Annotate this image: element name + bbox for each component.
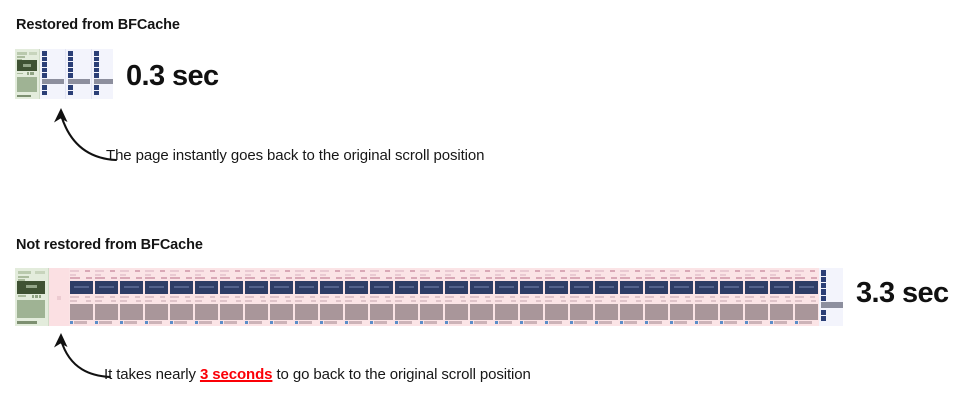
thumbnail-loading-page — [569, 268, 594, 326]
thumbnail-loading-page — [244, 268, 269, 326]
thumbnail-loading-page — [269, 268, 294, 326]
thumbnail-loading-page — [519, 268, 544, 326]
thumbnail-loading-page — [444, 268, 469, 326]
thumbnail-blank-gap — [49, 268, 69, 326]
thumbnail-loading-page — [219, 268, 244, 326]
thumbnail-loading-page — [544, 268, 569, 326]
thumbnail-restored-page — [819, 268, 843, 326]
thumbnail-loading-page — [769, 268, 794, 326]
caption-highlight-3-seconds: 3 seconds — [200, 366, 272, 383]
duration-label-not-restored: 3.3 sec — [856, 277, 949, 310]
thumbnail-loading-page — [494, 268, 519, 326]
caption-not-restored-before: It takes nearly — [104, 366, 200, 383]
thumbnail-loading-page — [344, 268, 369, 326]
thumbnail-loading-page — [294, 268, 319, 326]
thumbnail-loading-page — [194, 268, 219, 326]
caption-not-restored: It takes nearly 3 seconds to go back to … — [104, 366, 531, 383]
slide-canvas: Restored from BFCache 0.3 sec The page i… — [0, 0, 960, 412]
filmstrip-not-restored — [15, 268, 843, 326]
thumbnail-loading-page — [744, 268, 769, 326]
thumbnail-restored-page — [92, 49, 113, 99]
thumbnail-original-page — [15, 49, 40, 99]
thumbnail-loading-page — [394, 268, 419, 326]
thumbnail-loading-page — [469, 268, 494, 326]
section-heading-restored: Restored from BFCache — [16, 17, 180, 33]
duration-label-restored: 0.3 sec — [126, 60, 219, 93]
thumbnail-loading-page — [69, 268, 94, 326]
filmstrip-restored — [15, 49, 113, 99]
thumbnail-loading-page — [669, 268, 694, 326]
caption-restored: The page instantly goes back to the orig… — [106, 147, 484, 164]
section-heading-not-restored: Not restored from BFCache — [16, 237, 203, 253]
caption-not-restored-after: to go back to the original scroll positi… — [272, 366, 530, 383]
curved-arrow-up-left-icon-2 — [50, 330, 112, 380]
thumbnail-loading-page — [144, 268, 169, 326]
thumbnail-loading-page — [794, 268, 819, 326]
thumbnail-loading-page — [369, 268, 394, 326]
thumbnail-loading-page — [419, 268, 444, 326]
thumbnail-loading-page — [644, 268, 669, 326]
thumbnail-loading-page — [594, 268, 619, 326]
thumbnail-loading-page — [94, 268, 119, 326]
thumbnail-loading-page — [169, 268, 194, 326]
thumbnail-restored-page — [40, 49, 66, 99]
thumbnail-restored-page — [66, 49, 92, 99]
thumbnail-original-page — [15, 268, 49, 326]
caption-restored-text: The page instantly goes back to the orig… — [106, 147, 484, 164]
thumbnail-loading-page — [694, 268, 719, 326]
thumbnail-loading-page — [119, 268, 144, 326]
thumbnail-loading-page — [319, 268, 344, 326]
thumbnail-loading-page — [719, 268, 744, 326]
thumbnail-loading-page — [619, 268, 644, 326]
